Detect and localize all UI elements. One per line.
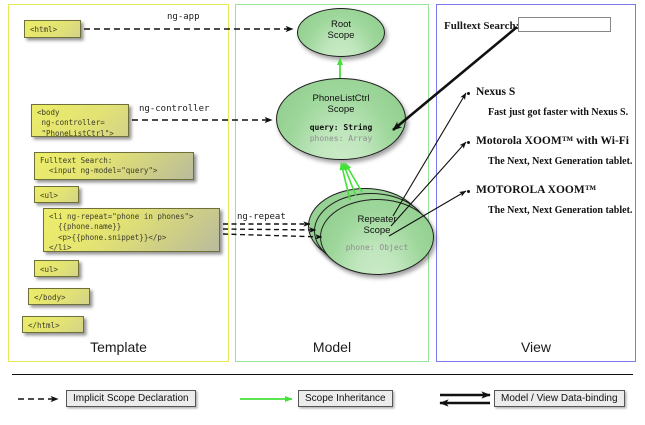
scope-phonelistctrl: PhoneListCtrl Scope query: String phones… — [276, 78, 406, 160]
fulltext-search-label: Fulltext Search: — [444, 20, 519, 32]
diagram-canvas: Template Model View <html> <body ng-cont… — [0, 0, 645, 425]
phone-name: MOTOROLA XOOM™ — [476, 184, 632, 196]
code-box-body-open: <body ng-controller= "PhoneListCtrl"> — [31, 104, 129, 137]
code-box-ul-close: <ul> — [34, 260, 79, 277]
phone-bullet-icon — [467, 190, 470, 193]
phone-name: Nexus S — [476, 86, 628, 98]
scope-root-name-line1: Root — [331, 19, 351, 30]
code-box-li-ngrepeat: <li ng-repeat="phone in phones"> {{phone… — [43, 208, 220, 252]
edge-label-ng-app: ng-app — [167, 12, 200, 22]
scope-ctrl-name-line1: PhoneListCtrl — [312, 93, 369, 104]
phone-snippet: The Next, Next Generation tablet. — [488, 205, 632, 216]
legend-item-model-view-databinding: Model / View Data-binding — [494, 390, 625, 407]
panel-view-title: View — [437, 339, 635, 355]
code-box-ul-open: <ul> — [34, 186, 79, 203]
edge-label-ng-controller: ng-controller — [139, 104, 209, 114]
code-box-body-close: </body> — [28, 288, 90, 305]
panel-model: Model — [235, 4, 429, 362]
phone-list-item: Motorola XOOM™ with Wi-Fi The Next, Next… — [476, 135, 632, 167]
code-box-html-open: <html> — [24, 20, 81, 38]
legend-divider — [12, 374, 633, 375]
scope-root: Root Scope — [297, 8, 385, 57]
panel-template: Template — [8, 4, 229, 362]
panel-model-title: Model — [236, 339, 428, 355]
edge-label-ng-repeat: ng-repeat — [237, 212, 286, 222]
scope-ctrl-name-line2: Scope — [328, 104, 355, 115]
scope-repeater-prop-phone: phone: Object — [321, 243, 433, 253]
scope-ctrl-prop-phones: phones: Array — [277, 134, 405, 144]
panel-view: View — [436, 4, 636, 362]
scope-ctrl-prop-query: query: String — [277, 123, 405, 133]
phone-list-item: Nexus S Fast just got faster with Nexus … — [476, 86, 628, 118]
scope-repeater: Repeater Scope phone: Object — [320, 199, 434, 275]
legend-symbol-databinding — [440, 395, 490, 403]
code-box-search-input: Fulltext Search: <input ng-model="query"… — [34, 152, 194, 180]
scope-repeater-name-line1: Repeater — [357, 214, 396, 225]
phone-bullet-icon — [467, 92, 470, 95]
legend-item-implicit-scope-declaration: Implicit Scope Declaration — [66, 390, 196, 407]
panel-template-title: Template — [9, 339, 228, 355]
phone-bullet-icon — [467, 141, 470, 144]
legend-item-scope-inheritance: Scope Inheritance — [298, 390, 393, 407]
phone-snippet: The Next, Next Generation tablet. — [488, 156, 632, 167]
fulltext-search-input[interactable] — [518, 17, 611, 32]
code-box-html-close: </html> — [22, 316, 84, 333]
phone-snippet: Fast just got faster with Nexus S. — [488, 107, 628, 118]
scope-repeater-name-line2: Scope — [364, 225, 391, 236]
scope-root-name-line2: Scope — [328, 30, 355, 41]
phone-list-item: MOTOROLA XOOM™ The Next, Next Generation… — [476, 184, 632, 216]
phone-name: Motorola XOOM™ with Wi-Fi — [476, 135, 632, 147]
